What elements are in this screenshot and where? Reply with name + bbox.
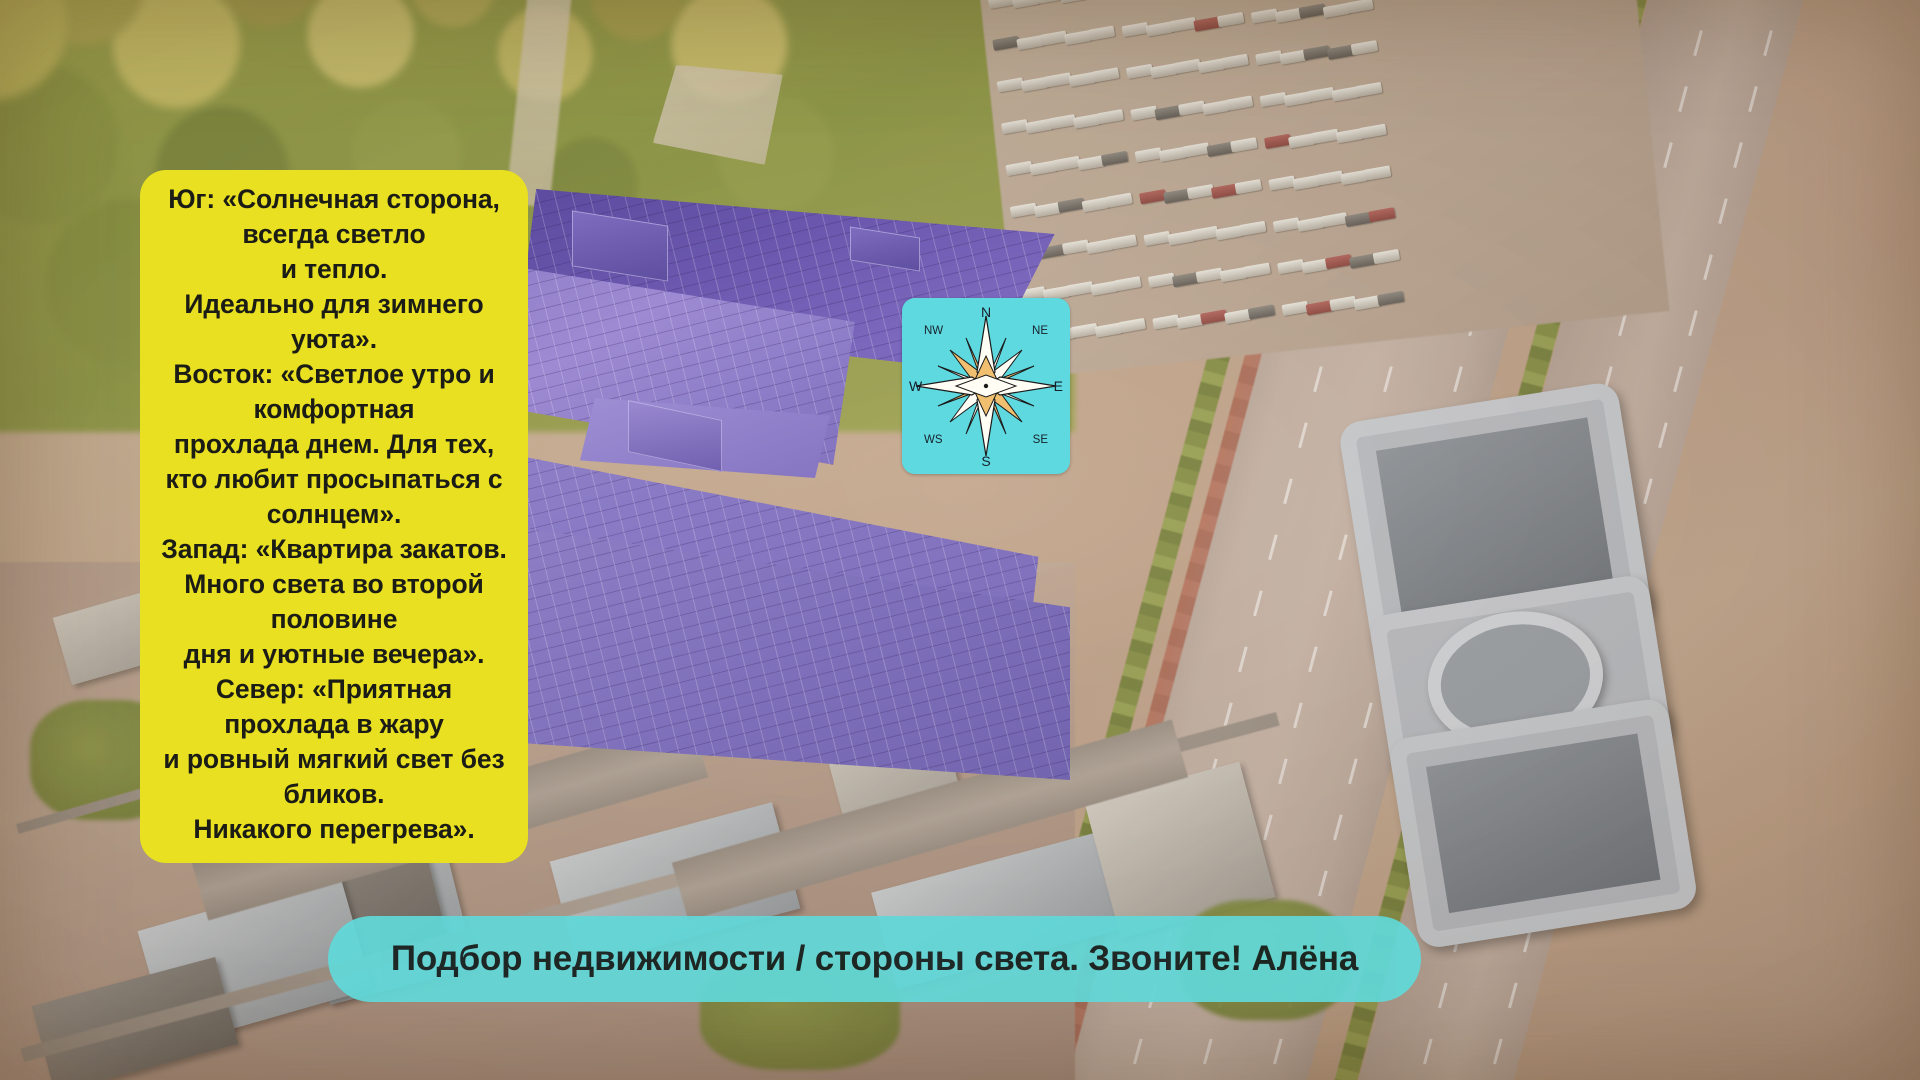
info-card-line: Север: «Приятная [154, 672, 514, 707]
info-card-line: дня и уютные вечера». [154, 637, 514, 672]
info-card-line: Много света во второй [154, 567, 514, 602]
info-card-line: прохлада в жару [154, 707, 514, 742]
info-card-line: кто любит просыпаться с [154, 462, 514, 497]
info-card-line: и ровный мягкий свет без [154, 742, 514, 777]
info-card-line: комфортная [154, 392, 514, 427]
info-card-line: прохлада днем. Для тех, [154, 427, 514, 462]
compass-label-west: W [909, 379, 922, 393]
info-card-line: и тепло. [154, 252, 514, 287]
compass-label-east: E [1054, 379, 1063, 393]
info-card-line: Никакого перегрева». [154, 812, 514, 847]
info-card-line: Восток: «Светлое утро и [154, 357, 514, 392]
compass-label-northeast: NE [1032, 326, 1048, 338]
compass-label-north: N [981, 305, 991, 319]
compass-label-southeast: SE [1033, 435, 1048, 447]
info-card-line: всегда светло [154, 217, 514, 252]
info-card-line: солнцем». [154, 497, 514, 532]
info-card-line: уюта». [154, 322, 514, 357]
info-card-line: Идеально для зимнего [154, 287, 514, 322]
compass-label-south: S [981, 454, 990, 468]
slide-canvas: Юг: «Солнечная сторона,всегда светлои те… [0, 0, 1920, 1080]
banner-text: Подбор недвижимости / стороны света. Зво… [391, 939, 1358, 979]
info-card-line: половине [154, 602, 514, 637]
compass-rose-card: N NE E SE S WS W NW [902, 298, 1070, 474]
info-card-line: бликов. [154, 777, 514, 812]
info-card-line: Юг: «Солнечная сторона, [154, 182, 514, 217]
compass-label-northwest: NW [924, 326, 943, 338]
info-card-line: Запад: «Квартира закатов. [154, 532, 514, 567]
orientation-info-card: Юг: «Солнечная сторона,всегда светлои те… [140, 170, 528, 863]
compass-label-southwest: WS [924, 435, 943, 447]
call-to-action-banner[interactable]: Подбор недвижимости / стороны света. Зво… [328, 916, 1421, 1002]
